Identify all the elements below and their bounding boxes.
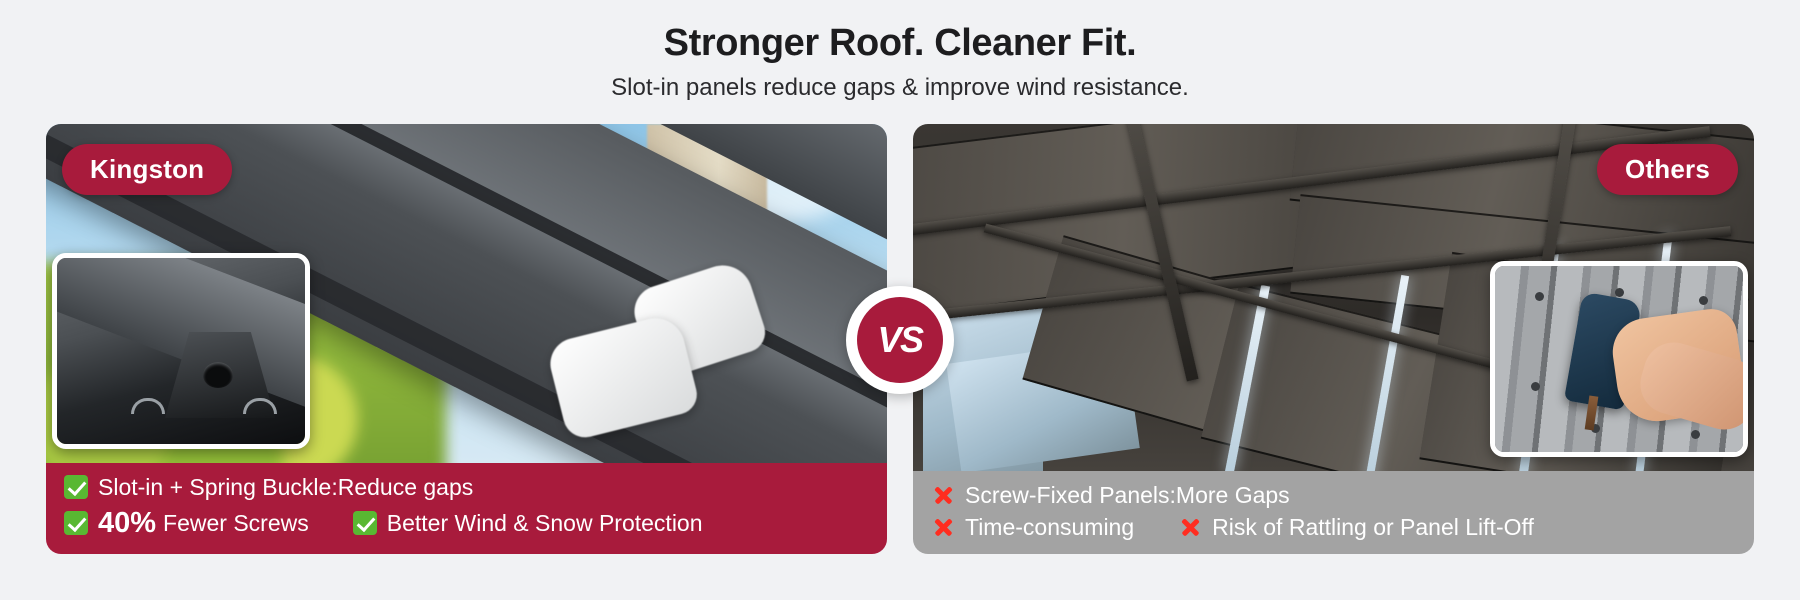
vs-badge: VS xyxy=(846,286,954,394)
caption-text: Slot-in + Spring Buckle:Reduce gaps xyxy=(98,472,473,502)
others-photo: Others xyxy=(913,124,1754,470)
caption-item: Better Wind & Snow Protection xyxy=(353,508,703,538)
caption-row: Slot-in + Spring Buckle:Reduce gaps xyxy=(64,472,869,502)
caption-text: Fewer Screws xyxy=(163,508,309,538)
kingston-caption: Slot-in + Spring Buckle:Reduce gaps 40% … xyxy=(46,463,887,555)
check-icon xyxy=(353,511,377,535)
screw-head xyxy=(1531,382,1540,391)
kingston-photo: Kingston xyxy=(46,124,887,462)
caption-item: 40% Fewer Screws xyxy=(64,504,309,542)
caption-row: 40% Fewer Screws Better Wind & Snow Prot… xyxy=(64,504,869,542)
cross-icon xyxy=(931,515,955,539)
header: Stronger Roof. Cleaner Fit. Slot-in pane… xyxy=(0,0,1800,102)
check-icon xyxy=(64,475,88,499)
caption-text: Better Wind & Snow Protection xyxy=(387,508,703,538)
caption-highlight: 40% xyxy=(98,504,156,542)
screw-head xyxy=(1691,430,1700,439)
caption-row: Time-consuming Risk of Rattling or Panel… xyxy=(931,512,1736,542)
caption-item: Screw-Fixed Panels:More Gaps xyxy=(931,480,1290,510)
caption-text: Time-consuming xyxy=(965,512,1134,542)
page-title: Stronger Roof. Cleaner Fit. xyxy=(0,22,1800,66)
bracket-photo xyxy=(57,258,305,444)
others-inset-image[interactable] xyxy=(1490,261,1748,457)
bracket-hole xyxy=(203,362,233,388)
caption-text: Screw-Fixed Panels:More Gaps xyxy=(965,480,1290,510)
page-subtitle: Slot-in panels reduce gaps & improve win… xyxy=(0,74,1800,103)
cross-icon xyxy=(1178,515,1202,539)
panel-kingston[interactable]: Kingston Slot-in + Spring Buckle:Reduce … xyxy=(46,124,887,554)
others-caption: Screw-Fixed Panels:More Gaps Time-consum… xyxy=(913,471,1754,555)
caption-item: Slot-in + Spring Buckle:Reduce gaps xyxy=(64,472,473,502)
caption-row: Screw-Fixed Panels:More Gaps xyxy=(931,480,1736,510)
panel-others[interactable]: Others xyxy=(913,124,1754,554)
kingston-inset-image[interactable] xyxy=(52,253,310,449)
spring-buckle-icon xyxy=(131,398,165,414)
badge-kingston: Kingston xyxy=(62,144,232,195)
screw-head xyxy=(1535,292,1544,301)
check-icon xyxy=(64,511,88,535)
badge-others: Others xyxy=(1597,144,1738,195)
cross-icon xyxy=(931,483,955,507)
caption-item: Time-consuming xyxy=(931,512,1134,542)
caption-text: Risk of Rattling or Panel Lift-Off xyxy=(1212,512,1534,542)
screw-head xyxy=(1699,296,1708,305)
caption-item: Risk of Rattling or Panel Lift-Off xyxy=(1178,512,1534,542)
drill-photo xyxy=(1495,266,1743,452)
vs-label: VS xyxy=(857,297,943,383)
comparison-container: Kingston Slot-in + Spring Buckle:Reduce … xyxy=(46,124,1754,554)
screw-head xyxy=(1615,288,1624,297)
